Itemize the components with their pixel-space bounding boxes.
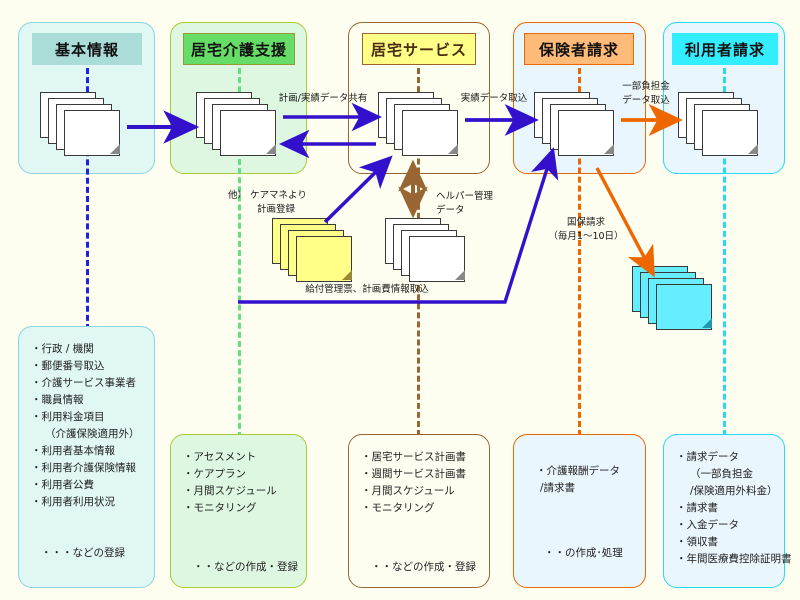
list-item: ・介護サービス事業者 bbox=[31, 375, 144, 392]
page-fold-icon bbox=[702, 318, 712, 328]
list-item: ・入金データ bbox=[676, 517, 774, 534]
list-footer: ・・などの作成・登録 bbox=[361, 559, 479, 576]
list-item: ・利用者基本情報 bbox=[31, 443, 144, 460]
label-copay-data-import-line1: 一部負担金 bbox=[608, 80, 684, 93]
list-item: ・行政 / 機関 bbox=[31, 341, 144, 358]
list-item: ・週間サービス計画書 bbox=[361, 466, 479, 483]
list-panel-home-care-support: ・アセスメント ・ケアプラン ・月間スケジュール ・モニタリング ・・などの作成… bbox=[170, 434, 307, 588]
label-benefit-mgmt-import: 給付管理票、計画費情報取込 bbox=[262, 283, 472, 296]
list-footer: ・・・などの登録 bbox=[31, 545, 144, 562]
page-fold-icon bbox=[455, 270, 465, 280]
diagram-canvas: 基本情報 居宅介護支援 居宅サービス 保険者請求 利用者請求 bbox=[0, 0, 800, 600]
list-item: ・アセスメント bbox=[183, 449, 296, 466]
list-item: （介護保険適用外） bbox=[31, 426, 144, 443]
list-item: ・利用者介護保険情報 bbox=[31, 460, 144, 477]
label-copay-data-import-line2: データ取込 bbox=[608, 94, 684, 107]
list-item: ・ケアプラン bbox=[183, 466, 296, 483]
list-item: ・居宅サービス計画書 bbox=[361, 449, 479, 466]
label-kokuho-billing-line2: （毎月1〜10日） bbox=[538, 230, 634, 243]
label-care-manager-plan-line2: 計画登録 bbox=[257, 203, 295, 216]
list-item: ・モニタリング bbox=[183, 500, 296, 517]
page-fold-icon bbox=[266, 144, 276, 154]
list-item: ・月間スケジュール bbox=[183, 483, 296, 500]
list-item: ・利用料金項目 bbox=[31, 409, 144, 426]
list-panel-basic-info: ・行政 / 機関 ・郵便番号取込 ・介護サービス事業者 ・職員情報 ・利用料金項… bbox=[18, 326, 155, 588]
label-helper-mgmt-line2: データ bbox=[436, 204, 465, 217]
stack-basic-info[interactable] bbox=[40, 92, 126, 158]
label-kokuho-billing-line1: 国保請求 bbox=[538, 216, 634, 229]
list-item: ・利用者公費 bbox=[31, 477, 144, 494]
stack-kokuho-cyan[interactable] bbox=[632, 266, 718, 332]
list-item: ・モニタリング bbox=[361, 500, 479, 517]
page-fold-icon bbox=[110, 144, 120, 154]
stack-user-billing[interactable] bbox=[678, 92, 764, 158]
list-item: ・請求データ bbox=[676, 449, 774, 466]
page-fold-icon bbox=[448, 144, 458, 154]
page-fold-icon bbox=[342, 270, 352, 280]
header-basic-info[interactable]: 基本情報 bbox=[32, 33, 142, 65]
stack-care-plan-yellow[interactable] bbox=[272, 218, 358, 284]
header-insurer-billing[interactable]: 保険者請求 bbox=[524, 33, 634, 65]
label-helper-mgmt-line1: ヘルパー管理 bbox=[436, 190, 493, 203]
header-user-billing[interactable]: 利用者請求 bbox=[672, 33, 778, 65]
list-item: （一部負担金 bbox=[676, 466, 774, 483]
list-item: ・領収書 bbox=[676, 534, 774, 551]
list-item: ・請求書 bbox=[676, 500, 774, 517]
page-fold-icon bbox=[604, 144, 614, 154]
list-footer: ・・などの作成・登録 bbox=[183, 559, 296, 576]
list-item: ・介護報酬データ bbox=[526, 463, 635, 480]
list-panel-insurer-billing: ・介護報酬データ /請求書 ・・の作成･処理 bbox=[513, 434, 646, 588]
list-item: /請求書 bbox=[526, 480, 635, 497]
list-footer: ・・の作成･処理 bbox=[526, 545, 635, 562]
label-plan-result-share: 計画/実績データ共有 bbox=[268, 92, 378, 105]
list-panel-home-service: ・居宅サービス計画書 ・週間サービス計画書 ・月間スケジュール ・モニタリング … bbox=[348, 434, 490, 588]
list-item: /保険適用外料金） bbox=[676, 483, 774, 500]
list-item: ・職員情報 bbox=[31, 392, 144, 409]
list-panel-user-billing: ・請求データ （一部負担金 /保険適用外料金） ・請求書 ・入金データ ・領収書… bbox=[663, 434, 785, 588]
list-item: ・月間スケジュール bbox=[361, 483, 479, 500]
stack-helper-mgmt[interactable] bbox=[385, 218, 471, 284]
label-result-data-import: 実績データ取込 bbox=[448, 92, 540, 105]
list-item: ・郵便番号取込 bbox=[31, 358, 144, 375]
header-home-care-support[interactable]: 居宅介護支援 bbox=[183, 33, 295, 65]
header-home-service[interactable]: 居宅サービス bbox=[362, 33, 476, 65]
list-item: ・利用者利用状況 bbox=[31, 494, 144, 511]
label-care-manager-plan-line1: 他） ケアマネより bbox=[228, 189, 307, 202]
list-item: ・年間医療費控除証明書 bbox=[676, 551, 774, 568]
page-fold-icon bbox=[748, 144, 758, 154]
